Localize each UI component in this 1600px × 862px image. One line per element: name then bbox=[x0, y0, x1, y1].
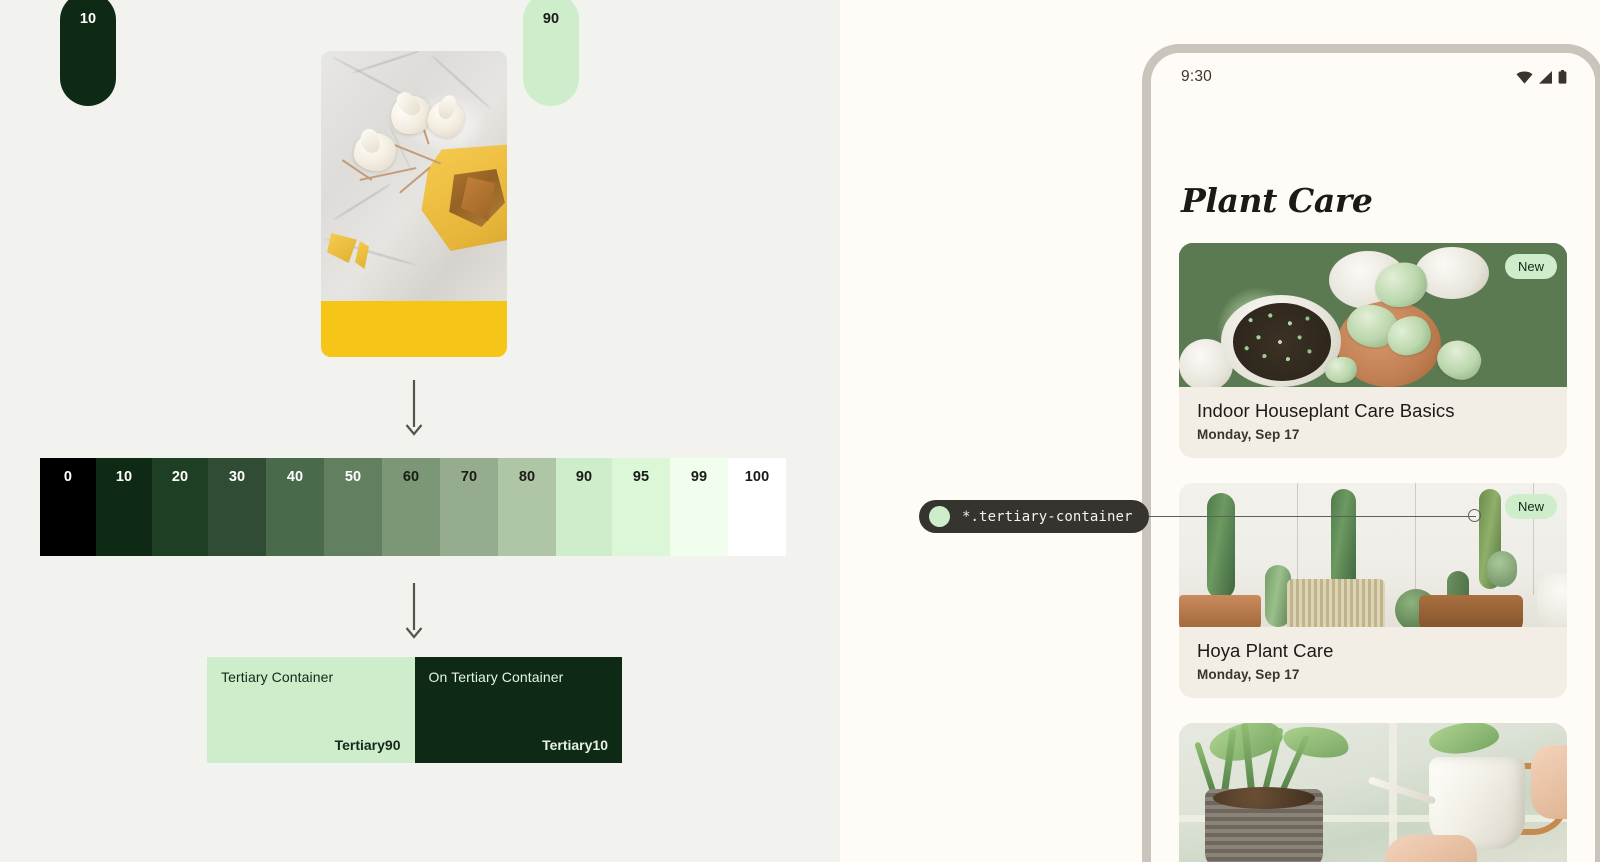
palette-tone-label: 10 bbox=[96, 469, 152, 485]
palette-swatch-60[interactable]: 60 bbox=[382, 458, 440, 556]
role-title: Tertiary Container bbox=[221, 669, 401, 685]
palette-swatch-40[interactable]: 40 bbox=[266, 458, 324, 556]
card-body: Indoor Houseplant Care Basics Monday, Se… bbox=[1179, 387, 1567, 458]
palette-swatch-20[interactable]: 20 bbox=[152, 458, 208, 556]
palette-tone-label: 50 bbox=[324, 469, 382, 485]
palette-swatch-30[interactable]: 30 bbox=[208, 458, 266, 556]
palette-swatch-10[interactable]: 10 bbox=[96, 458, 152, 556]
wifi-icon bbox=[1516, 71, 1533, 84]
palette-tone-label: 80 bbox=[498, 469, 556, 485]
token-annotation-chip[interactable]: *.tertiary-container bbox=[919, 500, 1149, 533]
token-name: *.tertiary-container bbox=[962, 509, 1133, 525]
palette-tone-label: 60 bbox=[382, 469, 440, 485]
palette-tone-label: 70 bbox=[440, 469, 498, 485]
palette-swatch-90[interactable]: 90 bbox=[556, 458, 612, 556]
palette-swatch-80[interactable]: 80 bbox=[498, 458, 556, 556]
status-badge: New bbox=[1505, 254, 1557, 279]
cellular-signal-icon bbox=[1538, 71, 1553, 84]
card-list: New Indoor Houseplant Care Basics Monday… bbox=[1151, 243, 1595, 862]
source-photo bbox=[321, 51, 507, 301]
color-dot-icon bbox=[929, 506, 950, 527]
status-time: 9:30 bbox=[1181, 68, 1212, 86]
list-item[interactable]: New Indoor Houseplant Care Basics Monday… bbox=[1179, 243, 1567, 458]
source-image-card[interactable] bbox=[321, 51, 507, 357]
card-date: Monday, Sep 17 bbox=[1197, 667, 1549, 682]
arrow-down-icon bbox=[405, 583, 423, 639]
tonal-palette: 01020304050607080909599100 bbox=[40, 458, 789, 556]
palette-swatch-highlight-90[interactable]: 90 bbox=[523, 0, 579, 106]
role-swatch[interactable]: Tertiary ContainerTertiary90 bbox=[207, 657, 415, 763]
page-title: Plant Care bbox=[1181, 181, 1373, 220]
status-icons bbox=[1516, 70, 1567, 84]
palette-tone-label: 100 bbox=[728, 469, 786, 485]
status-badge: New bbox=[1505, 494, 1557, 519]
extracted-color-swatch bbox=[321, 301, 507, 357]
card-title: Hoya Plant Care bbox=[1197, 640, 1549, 662]
palette-tone-label: 99 bbox=[670, 469, 728, 485]
palette-tone-label: 20 bbox=[152, 469, 208, 485]
card-media: New bbox=[1179, 483, 1567, 627]
palette-tone-label: 30 bbox=[208, 469, 266, 485]
palette-swatch-50[interactable]: 50 bbox=[324, 458, 382, 556]
palette-tone-label: 40 bbox=[266, 469, 324, 485]
card-date: Monday, Sep 17 bbox=[1197, 427, 1549, 442]
card-media bbox=[1179, 723, 1567, 862]
palette-swatch-highlight-10[interactable]: 10 bbox=[60, 0, 116, 106]
role-tone-label: Tertiary10 bbox=[542, 737, 608, 753]
arrow-down-icon bbox=[405, 380, 423, 436]
card-media: New bbox=[1179, 243, 1567, 387]
role-title: On Tertiary Container bbox=[429, 669, 609, 685]
palette-tone-label: 95 bbox=[612, 469, 670, 485]
palette-tone-label: 0 bbox=[40, 469, 96, 485]
phone-mockup: 9:30 bbox=[1142, 44, 1600, 862]
list-item[interactable] bbox=[1179, 723, 1567, 862]
battery-icon bbox=[1558, 70, 1567, 84]
palette-tone-label: 10 bbox=[60, 11, 116, 27]
status-bar: 9:30 bbox=[1151, 53, 1595, 101]
preview-panel: 9:30 bbox=[840, 0, 1600, 862]
role-tone-label: Tertiary90 bbox=[335, 737, 401, 753]
screenshot-root: 01020304050607080909599100 10 90 Tertiar… bbox=[0, 0, 1600, 862]
palette-swatch-95[interactable]: 95 bbox=[612, 458, 670, 556]
palette-tone-label: 90 bbox=[523, 11, 579, 27]
card-body: Hoya Plant Care Monday, Sep 17 bbox=[1179, 627, 1567, 698]
annotation-target-ring bbox=[1468, 509, 1481, 522]
card-title: Indoor Houseplant Care Basics bbox=[1197, 400, 1549, 422]
palette-swatch-0[interactable]: 0 bbox=[40, 458, 96, 556]
palette-swatch-99[interactable]: 99 bbox=[670, 458, 728, 556]
color-role-swatches: Tertiary ContainerTertiary90On Tertiary … bbox=[207, 657, 622, 763]
role-swatch[interactable]: On Tertiary ContainerTertiary10 bbox=[415, 657, 623, 763]
string-of-pearls-plant bbox=[1233, 303, 1331, 381]
palette-panel: 01020304050607080909599100 10 90 Tertiar… bbox=[0, 0, 840, 862]
palette-swatch-100[interactable]: 100 bbox=[728, 458, 786, 556]
palette-swatch-70[interactable]: 70 bbox=[440, 458, 498, 556]
palette-tone-label: 90 bbox=[556, 469, 612, 485]
